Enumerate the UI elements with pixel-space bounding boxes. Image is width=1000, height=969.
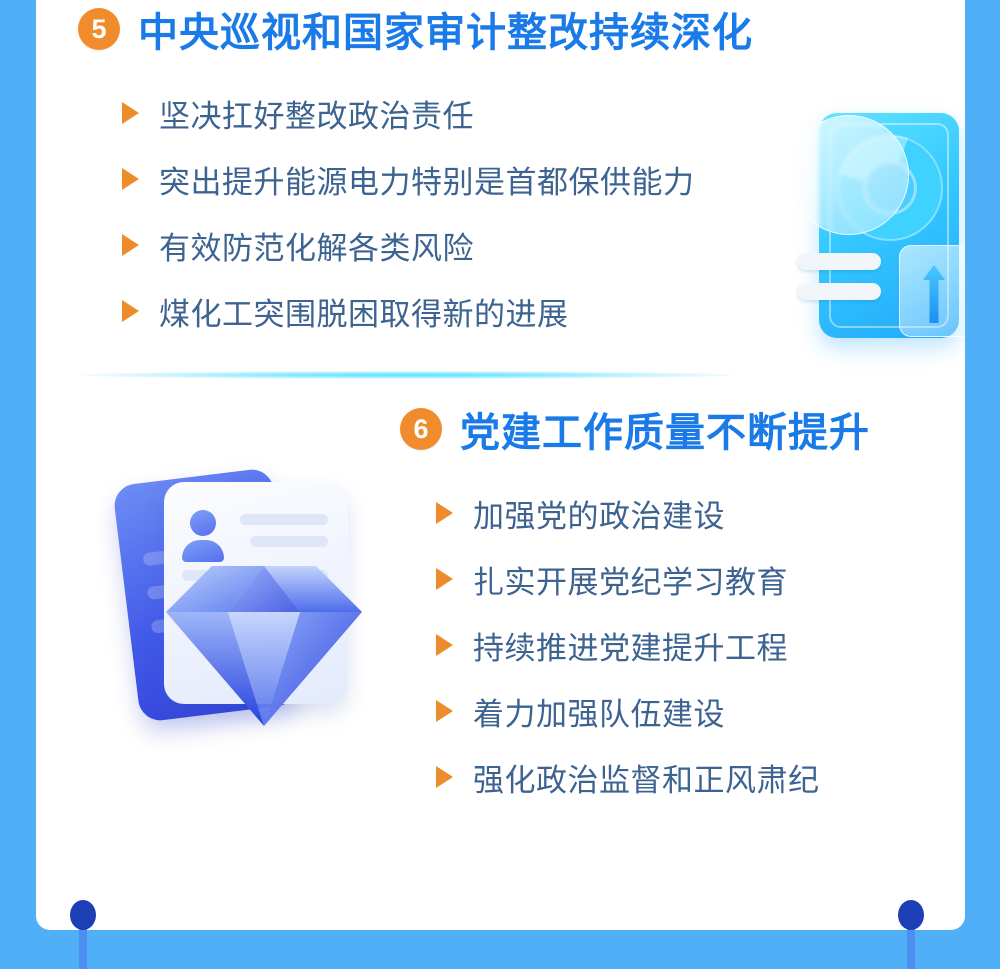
triangle-bullet-icon [436, 502, 453, 524]
triangle-bullet-icon [122, 234, 139, 256]
bullet-text: 煤化工突围脱困取得新的进展 [159, 289, 569, 334]
pin-dot-icon [70, 900, 96, 930]
avatar-icon [190, 510, 216, 536]
text-line-bar [797, 253, 881, 270]
bullet-text: 强化政治监督和正风肃纪 [473, 755, 820, 800]
diamond-gem-icon [166, 566, 362, 726]
bullet-text: 着力加强队伍建设 [473, 689, 725, 734]
text-line-bar [797, 283, 881, 300]
list-item: 持续推进党建提升工程 [436, 612, 965, 678]
report-chart-illustration [771, 95, 965, 350]
section-divider [82, 371, 732, 379]
list-item: 加强党的政治建设 [436, 480, 965, 546]
bullet-text: 持续推进党建提升工程 [473, 623, 788, 668]
triangle-bullet-icon [436, 634, 453, 656]
arrow-up-icon [923, 265, 945, 323]
section-5-header: 5 中央巡视和国家审计整改持续深化 [36, 0, 965, 58]
bullet-text: 突出提升能源电力特别是首都保供能力 [159, 157, 695, 202]
card-line [250, 536, 328, 547]
triangle-bullet-icon [436, 700, 453, 722]
triangle-bullet-icon [436, 568, 453, 590]
content-card: 5 中央巡视和国家审计整改持续深化 坚决扛好整改政治责任 突出提升能源电力特别是… [36, 0, 965, 930]
bullet-text: 加强党的政治建设 [473, 491, 725, 536]
section-6-number-badge: 6 [400, 408, 442, 450]
triangle-bullet-icon [122, 102, 139, 124]
section-6-header: 6 党建工作质量不断提升 [36, 400, 965, 458]
triangle-bullet-icon [122, 300, 139, 322]
right-edge-strip [965, 0, 1000, 969]
avatar-body-icon [182, 540, 224, 562]
left-edge-strip [0, 0, 36, 969]
triangle-bullet-icon [436, 766, 453, 788]
bullet-text: 扎实开展党纪学习教育 [473, 557, 788, 602]
triangle-bullet-icon [122, 168, 139, 190]
infographic-page: 5 中央巡视和国家审计整改持续深化 坚决扛好整改政治责任 突出提升能源电力特别是… [0, 0, 1000, 969]
glass-circle-overlay [789, 115, 909, 235]
section-5-title: 中央巡视和国家审计整改持续深化 [138, 0, 753, 58]
id-card-gem-illustration [124, 468, 384, 730]
list-item: 扎实开展党纪学习教育 [436, 546, 965, 612]
list-item: 着力加强队伍建设 [436, 678, 965, 744]
section-6-title: 党建工作质量不断提升 [460, 400, 870, 458]
bullet-text: 有效防范化解各类风险 [159, 223, 474, 268]
card-line [240, 514, 328, 525]
bullet-text: 坚决扛好整改政治责任 [159, 91, 474, 136]
bottom-edge-strip [0, 930, 1000, 969]
pin-dot-icon [898, 900, 924, 930]
section-5-number-badge: 5 [78, 8, 120, 50]
list-item: 强化政治监督和正风肃纪 [436, 744, 965, 810]
